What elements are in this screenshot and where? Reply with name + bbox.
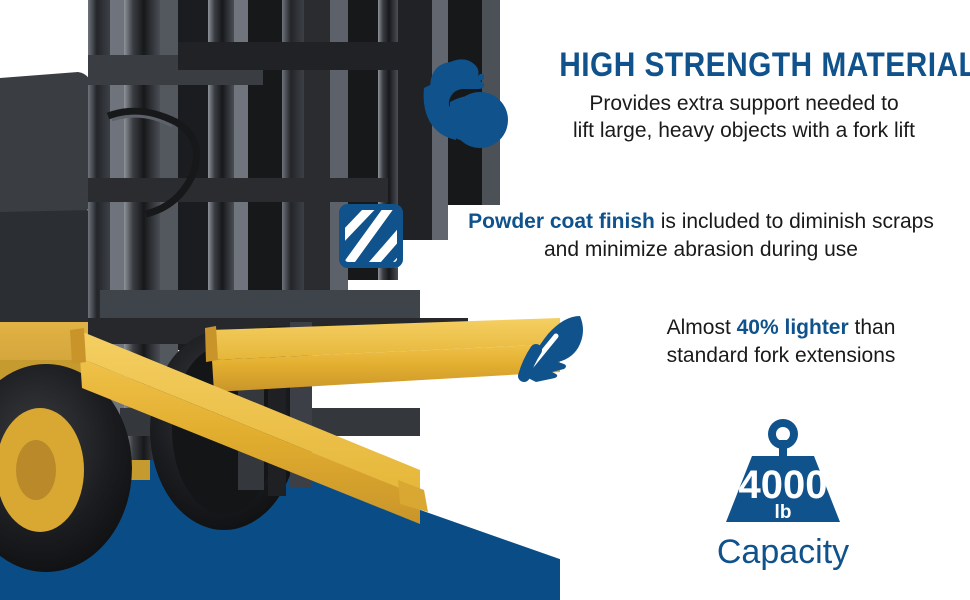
feature-lighter-weight: Almost 40% lighter than standard fork ex… xyxy=(512,306,962,386)
fork-extension-upper xyxy=(205,318,560,392)
flexed-bicep-icon xyxy=(420,54,516,150)
capacity-value: 4000 xyxy=(739,463,828,507)
feature-coat-bold: Powder coat finish xyxy=(468,210,655,233)
feature-strength-line-2: lift large, heavy objects with a fork li… xyxy=(534,117,954,145)
feature-strength-line-1: Provides extra support needed to xyxy=(534,90,954,118)
feature-light-line-1: Almost 40% lighter than xyxy=(616,314,946,342)
feature-light-line-2: standard fork extensions xyxy=(616,342,946,370)
feature-light-text: Almost 40% lighter than standard fork ex… xyxy=(616,306,946,369)
feature-coat-rest: is included to diminish scraps xyxy=(655,210,934,233)
feature-powder-coat-finish: Powder coat finish is included to dimini… xyxy=(336,196,966,276)
feature-coat-line-2: and minimize abrasion during use xyxy=(436,236,966,264)
feature-light-bold: 40% lighter xyxy=(737,316,849,339)
feature-coat-line-1: Powder coat finish is included to dimini… xyxy=(436,208,966,236)
feather-icon xyxy=(512,306,594,386)
capacity-label: Capacity xyxy=(688,535,878,569)
feature-high-strength-material: HIGH STRENGTH MATERIAL Provides extra su… xyxy=(420,48,965,150)
feature-light-post: than xyxy=(849,316,896,339)
striped-square-icon xyxy=(336,196,406,276)
infographic-banner: HIGH STRENGTH MATERIAL Provides extra su… xyxy=(0,0,970,600)
weight-icon: 4000 lb xyxy=(688,418,878,528)
feature-strength-text: HIGH STRENGTH MATERIAL Provides extra su… xyxy=(534,48,954,145)
capacity-badge: 4000 lb Capacity xyxy=(688,418,878,569)
feature-strength-headline: HIGH STRENGTH MATERIAL xyxy=(559,48,929,84)
feature-coat-text: Powder coat finish is included to dimini… xyxy=(436,196,966,263)
capacity-unit: lb xyxy=(775,502,792,523)
feature-light-pre: Almost xyxy=(667,316,737,339)
